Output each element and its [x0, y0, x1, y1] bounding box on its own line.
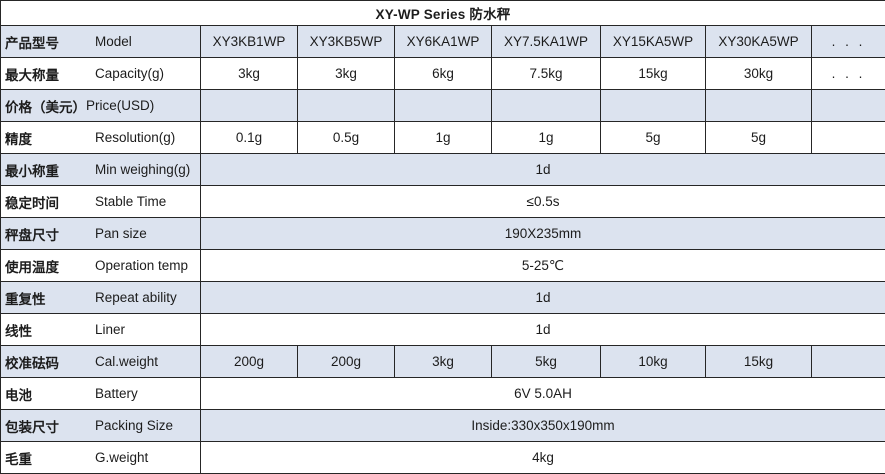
merged-value-cell: 5-25℃ [201, 250, 885, 282]
data-cell: 200g [201, 346, 298, 378]
row-label-english: Capacity(g) [87, 66, 200, 81]
row-label-chinese: 线性 [1, 320, 87, 340]
data-cell: 6kg [395, 58, 492, 90]
row-label-chinese: 电池 [1, 384, 87, 404]
data-cell: 3kg [395, 346, 492, 378]
row-label-cell: 最小称重Min weighing(g) [1, 154, 201, 186]
merged-value-cell: ≤0.5s [201, 186, 885, 218]
data-cell [706, 90, 812, 122]
data-cell: 5g [706, 122, 812, 154]
data-cell: XY30KA5WP [706, 26, 812, 58]
data-cell: 5kg [492, 346, 601, 378]
overflow-cell: . . . [812, 26, 885, 58]
table-row: 重复性Repeat ability1d [1, 282, 885, 314]
row-label-english: Operation temp [87, 258, 200, 273]
row-label-english: Liner [87, 322, 200, 337]
data-cell: 200g [298, 346, 395, 378]
row-label-chinese: 重复性 [1, 288, 87, 308]
row-label-english: Packing Size [87, 418, 200, 433]
table-title: XY-WP Series 防水秤 [1, 1, 885, 26]
overflow-cell [812, 90, 885, 122]
data-cell [201, 90, 298, 122]
merged-value-cell: 1d [201, 154, 885, 186]
row-label-chinese: 价格（美元） [1, 96, 86, 116]
merged-value-cell: 1d [201, 282, 885, 314]
row-label-chinese: 包装尺寸 [1, 416, 87, 436]
row-label-cell: 秤盘尺寸Pan size [1, 218, 201, 250]
row-label-cell: 校准砝码Cal.weight [1, 346, 201, 378]
row-label-cell: 使用温度Operation temp [1, 250, 201, 282]
data-cell: 1g [395, 122, 492, 154]
row-label-english: Cal.weight [87, 354, 200, 369]
data-cell: XY15KA5WP [601, 26, 706, 58]
table-row: 电池Battery6V 5.0AH [1, 378, 885, 410]
data-cell: 3kg [298, 58, 395, 90]
data-cell [601, 90, 706, 122]
row-label-english: Repeat ability [87, 290, 200, 305]
data-cell: 15kg [706, 346, 812, 378]
data-cell [492, 90, 601, 122]
row-label-english: G.weight [87, 450, 200, 465]
row-label-cell: 包装尺寸Packing Size [1, 410, 201, 442]
data-cell: 7.5kg [492, 58, 601, 90]
merged-value-cell: 4kg [201, 442, 885, 474]
merged-value-cell: 190X235mm [201, 218, 885, 250]
row-label-english: Price(USD) [86, 98, 200, 113]
row-label-chinese: 稳定时间 [1, 192, 87, 212]
data-cell [298, 90, 395, 122]
merged-value-cell: Inside:330x350x190mm [201, 410, 885, 442]
table-row: 精度Resolution(g)0.1g0.5g1g1g5g5g [1, 122, 885, 154]
row-label-chinese: 校准砝码 [1, 352, 87, 372]
data-cell: XY3KB5WP [298, 26, 395, 58]
row-label-chinese: 精度 [1, 128, 87, 148]
data-cell [395, 90, 492, 122]
row-label-cell: 产品型号Model [1, 26, 201, 58]
row-label-chinese: 毛重 [1, 448, 87, 468]
table-row: 使用温度Operation temp5-25℃ [1, 250, 885, 282]
row-label-chinese: 最小称重 [1, 160, 87, 180]
row-label-english: Model [87, 34, 200, 49]
data-cell: XY3KB1WP [201, 26, 298, 58]
row-label-cell: 电池Battery [1, 378, 201, 410]
merged-value-cell: 6V 5.0AH [201, 378, 885, 410]
data-cell: 0.5g [298, 122, 395, 154]
table-row: 最小称重Min weighing(g)1d [1, 154, 885, 186]
table-row: 价格（美元）Price(USD) [1, 90, 885, 122]
table-row: 毛重G.weight4kg [1, 442, 885, 474]
row-label-english: Resolution(g) [87, 130, 200, 145]
row-label-cell: 毛重G.weight [1, 442, 201, 474]
table-row: 最大称量Capacity(g)3kg3kg6kg7.5kg15kg30kg. .… [1, 58, 885, 90]
row-label-english: Battery [87, 386, 200, 401]
data-cell: 3kg [201, 58, 298, 90]
specification-table: XY-WP Series 防水秤产品型号ModelXY3KB1WPXY3KB5W… [0, 0, 885, 474]
overflow-cell [812, 122, 885, 154]
table-row: 包装尺寸Packing SizeInside:330x350x190mm [1, 410, 885, 442]
table-row: 稳定时间Stable Time≤0.5s [1, 186, 885, 218]
row-label-chinese: 产品型号 [1, 32, 87, 52]
row-label-english: Stable Time [87, 194, 200, 209]
overflow-cell: . . . [812, 58, 885, 90]
row-label-chinese: 秤盘尺寸 [1, 224, 87, 244]
data-cell: 0.1g [201, 122, 298, 154]
data-cell: 15kg [601, 58, 706, 90]
row-label-chinese: 使用温度 [1, 256, 87, 276]
merged-value-cell: 1d [201, 314, 885, 346]
row-label-cell: 价格（美元）Price(USD) [1, 90, 201, 122]
row-label-cell: 重复性Repeat ability [1, 282, 201, 314]
row-label-cell: 精度Resolution(g) [1, 122, 201, 154]
row-label-cell: 线性Liner [1, 314, 201, 346]
table-row: 秤盘尺寸Pan size190X235mm [1, 218, 885, 250]
data-cell: 10kg [601, 346, 706, 378]
data-cell: 30kg [706, 58, 812, 90]
data-cell: 1g [492, 122, 601, 154]
table-row: 校准砝码Cal.weight200g200g3kg5kg10kg15kg [1, 346, 885, 378]
row-label-chinese: 最大称量 [1, 64, 87, 84]
data-cell: XY6KA1WP [395, 26, 492, 58]
row-label-english: Min weighing(g) [87, 162, 200, 177]
row-label-english: Pan size [87, 226, 200, 241]
data-cell: 5g [601, 122, 706, 154]
data-cell: XY7.5KA1WP [492, 26, 601, 58]
row-label-cell: 最大称量Capacity(g) [1, 58, 201, 90]
row-label-cell: 稳定时间Stable Time [1, 186, 201, 218]
overflow-cell [812, 346, 885, 378]
table-row: 产品型号ModelXY3KB1WPXY3KB5WPXY6KA1WPXY7.5KA… [1, 26, 885, 58]
title-row: XY-WP Series 防水秤 [1, 1, 885, 26]
table-row: 线性Liner1d [1, 314, 885, 346]
